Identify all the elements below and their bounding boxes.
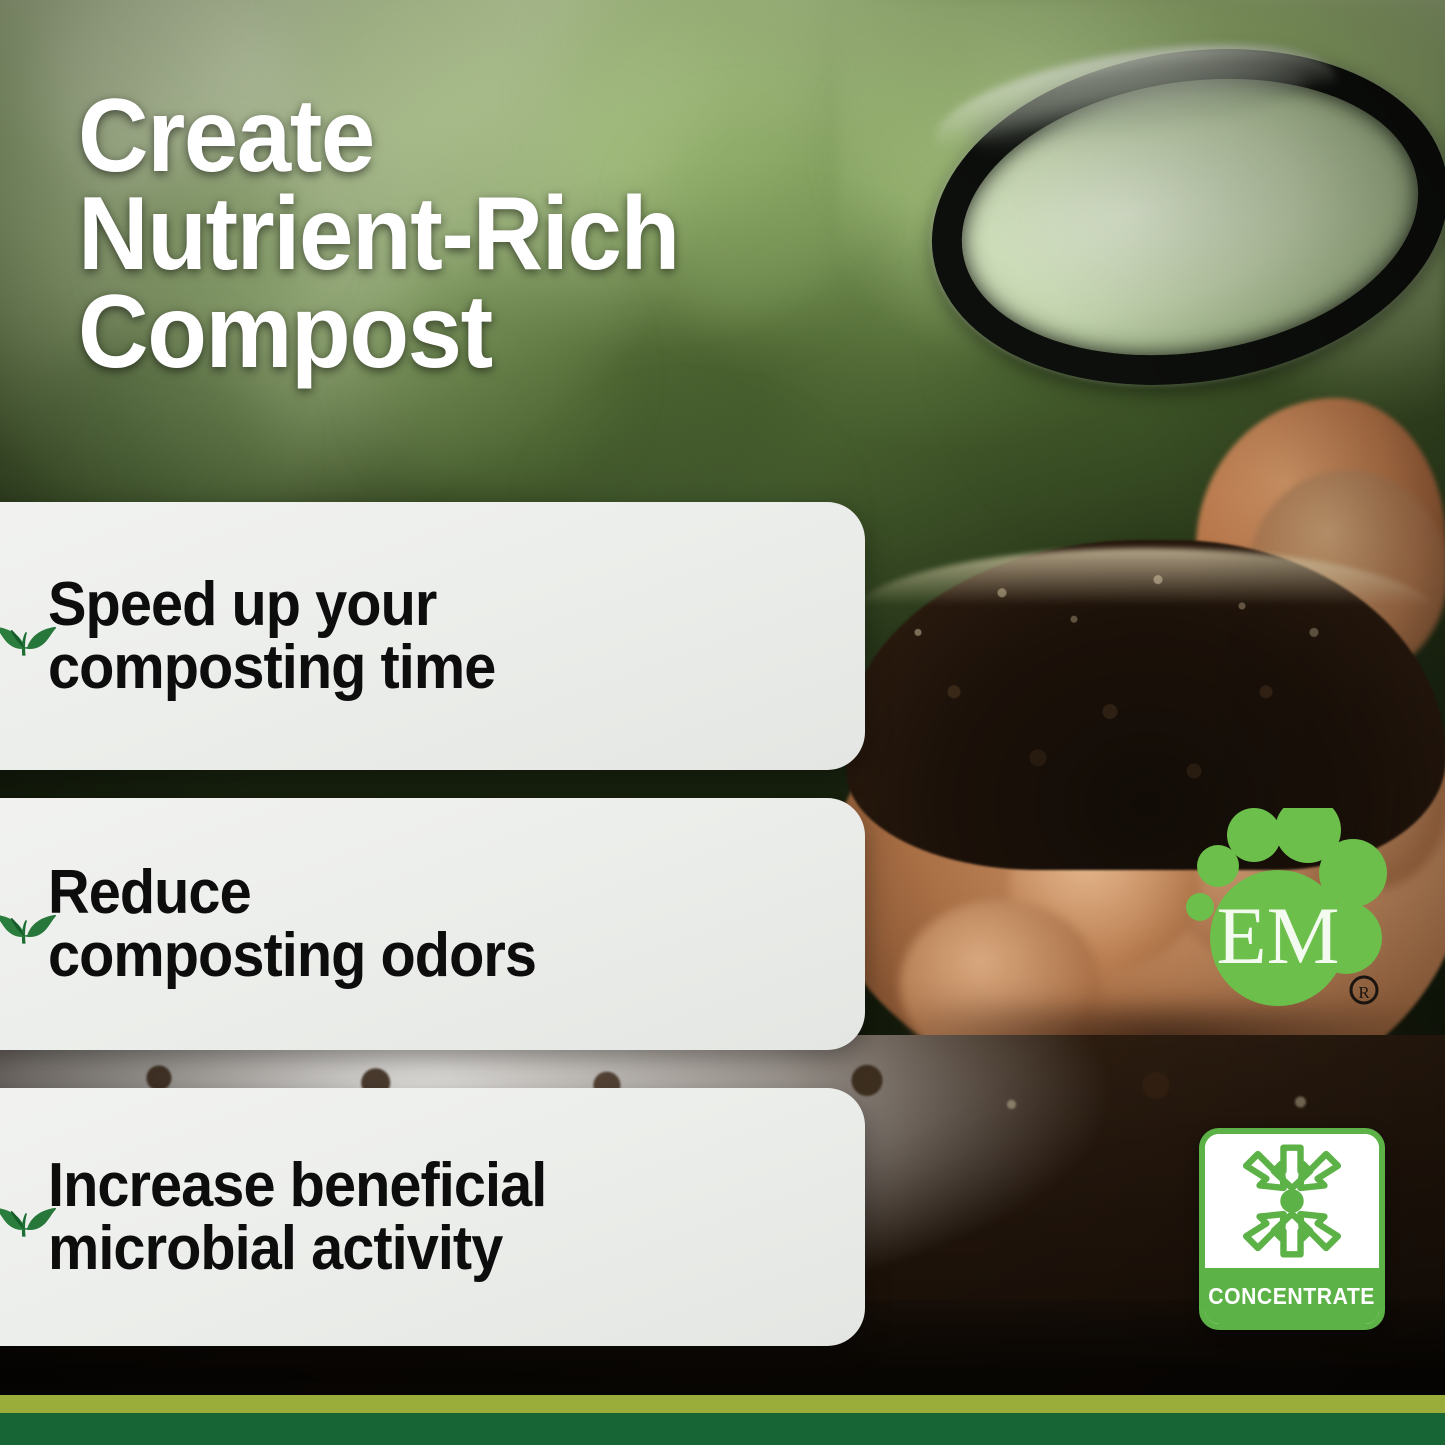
feature-text: Increase beneficial microbial activity <box>48 1154 780 1280</box>
status-badge: CONCENTRATE <box>1199 1128 1385 1330</box>
svg-text:R: R <box>1358 983 1370 1002</box>
feature-line-1: Speed up your <box>48 573 780 636</box>
feature-card: Increase beneficial microbial activity <box>0 1088 865 1346</box>
product-feature-image: Create Nutrient-Rich Compost Speed up yo… <box>0 0 1445 1445</box>
feature-line-1: Reduce <box>48 861 780 924</box>
feature-line-1: Increase beneficial <box>48 1154 780 1217</box>
feature-line-2: microbial activity <box>48 1217 780 1280</box>
feature-text: Speed up your composting time <box>48 573 780 699</box>
feature-card: Speed up your composting time <box>0 502 865 770</box>
registered-mark: R <box>1351 977 1377 1003</box>
headline-line-3: Compost <box>78 284 924 382</box>
feature-line-2: composting time <box>48 636 780 699</box>
page-title: Create Nutrient-Rich Compost <box>78 88 924 381</box>
feature-card: Reduce composting odors <box>0 798 865 1050</box>
feature-text: Reduce composting odors <box>48 861 780 987</box>
footer-stripe-green <box>0 1413 1445 1445</box>
badge-label-bar: CONCENTRATE <box>1205 1268 1379 1324</box>
feature-line-2: composting odors <box>48 924 780 987</box>
em-brand-logo-icon: EM R <box>1168 808 1398 1028</box>
svg-text:EM: EM <box>1217 890 1340 981</box>
status-badge-label: CONCENTRATE <box>1209 1283 1376 1310</box>
converging-arrows-icon <box>1205 1134 1379 1268</box>
footer-stripe-olive <box>0 1395 1445 1413</box>
headline-line-2: Nutrient-Rich <box>78 186 924 284</box>
headline-line-1: Create <box>78 88 924 186</box>
